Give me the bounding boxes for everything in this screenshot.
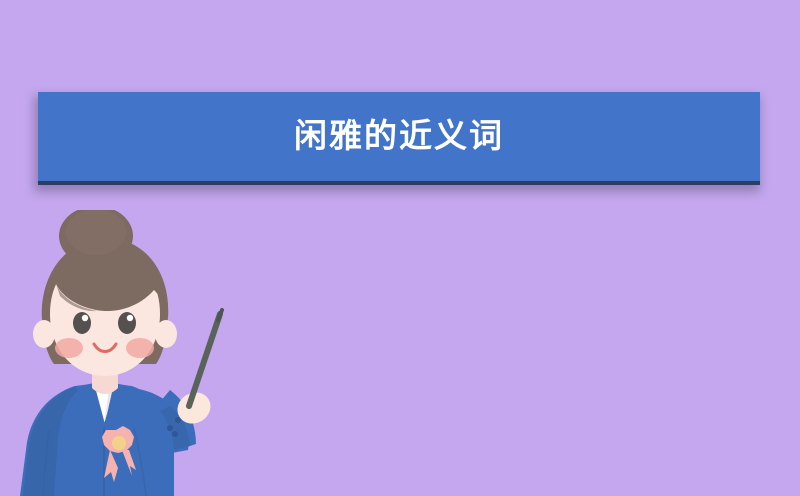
page-canvas: 闲雅的近义词 [0, 0, 800, 496]
sleeve-button [167, 425, 173, 431]
ribbon-center [112, 436, 126, 450]
blush-left [55, 338, 83, 358]
blush-right [126, 338, 154, 358]
teacher-illustration [14, 210, 244, 496]
page-title: 闲雅的近义词 [294, 119, 504, 152]
eye-left [73, 312, 91, 334]
sleeve-button [172, 431, 178, 437]
pointer-stick [189, 310, 222, 406]
sleeve-button [175, 417, 181, 423]
eye-right [118, 312, 136, 334]
title-banner: 闲雅的近义词 [38, 92, 760, 185]
